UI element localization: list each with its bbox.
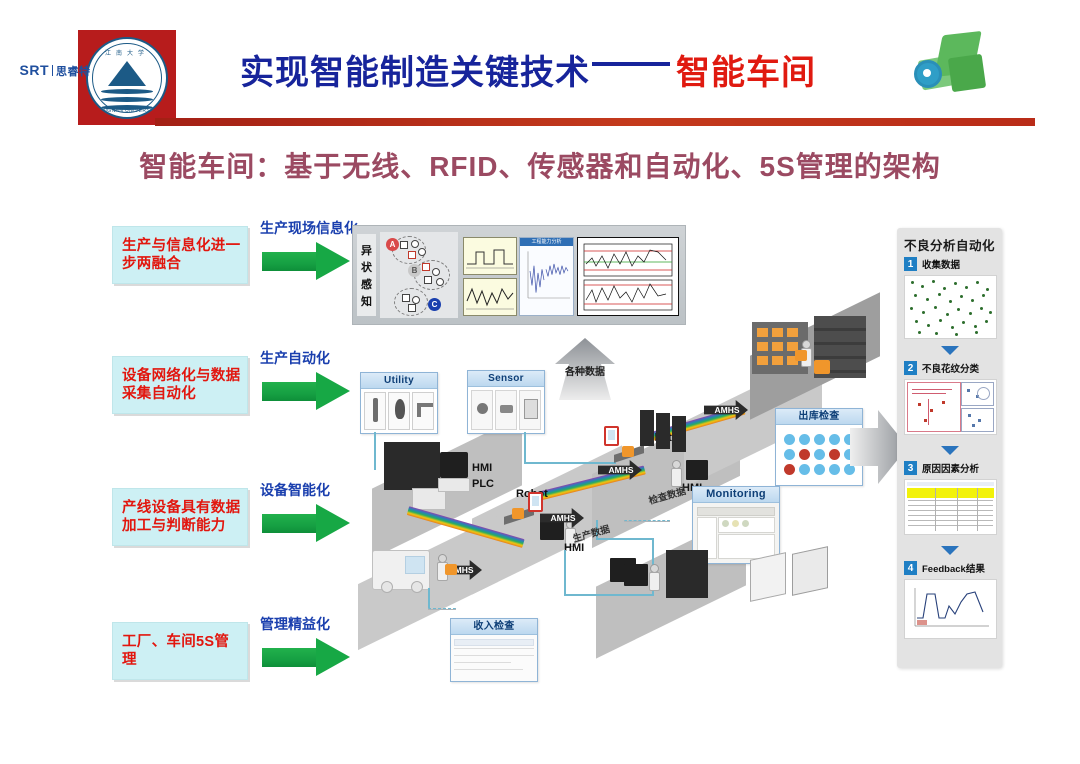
data-up-arrow-label: 各种数据	[545, 363, 625, 378]
sensor-icon-1	[471, 390, 493, 430]
capability-row: 设备网络化与数据采集自动化 生产自动化	[112, 348, 367, 440]
transport-vehicle	[372, 550, 430, 590]
utility-icon-faucet	[412, 392, 434, 430]
header-divider	[155, 118, 1035, 126]
hmi-screen	[440, 452, 468, 478]
step-label: 不良花纹分类	[922, 361, 979, 375]
robot-arm-icon	[512, 508, 524, 519]
defect-analysis-title: 不良分析自动化	[897, 235, 1002, 254]
label-plc: PLC	[472, 478, 494, 490]
title-dash-rule	[592, 62, 670, 66]
label-amhs: AMHS	[710, 405, 744, 415]
inbound-inspection-title: 收入检查	[451, 619, 537, 635]
network-badge-a: A	[386, 238, 399, 251]
server-unit	[640, 410, 654, 446]
vlabel-char: 知	[361, 293, 372, 309]
green-arrow-icon	[262, 372, 350, 410]
capability-arrow-group: 生产自动化	[260, 348, 366, 440]
hmi-stand	[438, 478, 470, 492]
connector-line	[564, 550, 566, 594]
step-number-badge: 2	[904, 361, 917, 375]
step-caret-icon	[941, 446, 959, 455]
sensor-icon-3	[519, 390, 541, 430]
connector-line	[374, 432, 376, 470]
server-unit	[672, 416, 686, 452]
capability-box-label: 工厂、车间5S管理	[122, 633, 241, 669]
capability-arrow-label: 管理精益化	[260, 614, 366, 634]
defect-step-4[interactable]: 4 Feedback结果	[904, 560, 995, 639]
label-amhs: AMHS	[546, 513, 580, 523]
slide-root: 江南大学 JIANGNAN UNIVERSITY 实现智能制造关键技术 智能车间…	[0, 0, 1080, 764]
worker-body	[649, 572, 660, 591]
step-number-badge: 3	[904, 461, 917, 475]
capability-box: 设备网络化与数据采集自动化	[112, 356, 248, 414]
network-map-panel: A B C	[380, 232, 458, 318]
connector-line	[428, 608, 456, 610]
connector-line	[428, 588, 430, 608]
capability-arrow-group: 管理精益化	[260, 614, 366, 706]
storage-shelf	[752, 322, 808, 374]
vlabel-char: 异	[361, 242, 372, 258]
dot-matrix	[784, 434, 855, 475]
srt-green-shape-icon	[948, 54, 986, 92]
capability-arrow-label: 生产自动化	[260, 348, 366, 368]
step-number-badge: 4	[904, 561, 917, 575]
connector-line	[596, 538, 654, 540]
connector-line	[624, 520, 670, 522]
utility-card[interactable]: Utility	[360, 372, 438, 434]
utility-icon-flame	[388, 392, 410, 430]
sensor-card[interactable]: Sensor	[467, 370, 545, 434]
anomaly-dashboard: 异 状 感 知 A B	[352, 225, 686, 325]
equipment-rack	[666, 550, 708, 598]
capability-row: 生产与信息化进一步两融合 生产现场信息化	[112, 218, 367, 310]
monitor-screen	[624, 564, 648, 586]
mini-chart-wave	[463, 278, 517, 316]
step-thumbnail-linechart	[904, 579, 997, 639]
step-caret-icon	[941, 546, 959, 555]
rfid-reader-icon	[604, 426, 619, 446]
seal-wave-icon	[101, 97, 153, 102]
sensor-card-title: Sensor	[468, 371, 544, 387]
vlabel-char: 状	[361, 259, 372, 275]
seal-cn-text: 江南大学	[88, 48, 166, 57]
capability-arrow-label: 设备智能化	[260, 480, 366, 500]
vlabel-char: 感	[361, 276, 372, 292]
worker-vest-icon	[445, 564, 457, 575]
step-label: Feedback结果	[922, 561, 985, 575]
rfid-reader-icon	[528, 492, 543, 512]
page-title-main: 实现智能制造关键技术	[240, 45, 590, 94]
utility-card-title: Utility	[361, 373, 437, 389]
checklist-board	[792, 546, 828, 596]
srt-brand-logo	[898, 32, 1008, 118]
utility-icon-valve	[364, 392, 386, 430]
green-arrow-icon	[262, 638, 350, 676]
defect-step-2[interactable]: 2 不良花纹分类	[904, 360, 995, 435]
label-amhs: AMHS	[604, 465, 638, 475]
hmi-screen	[686, 460, 708, 480]
step-thumbnail-table	[904, 479, 997, 535]
seal-triangle-icon	[108, 61, 146, 86]
checklist-board	[750, 552, 786, 602]
capability-row: 工厂、车间5S管理 管理精益化	[112, 614, 367, 706]
capability-box-label: 设备网络化与数据采集自动化	[122, 367, 241, 403]
capability-box: 工厂、车间5S管理	[112, 622, 248, 680]
inbound-inspection-card[interactable]: 收入检查	[450, 618, 538, 682]
defect-step-3[interactable]: 3 原因因素分析	[904, 460, 995, 535]
left-capability-column: 生产与信息化进一步两融合 生产现场信息化 设备网络化与数据采集自动化 生产自动化	[112, 218, 367, 698]
label-hmi: HMI	[472, 462, 492, 474]
srt-abbr: SRT	[20, 62, 50, 78]
srt-brand-text: SRT思睿特	[0, 62, 110, 79]
network-badge-c: C	[428, 298, 441, 311]
seal-wave-icon	[101, 89, 153, 94]
defect-step-1[interactable]: 1 收集数据	[904, 256, 995, 339]
capability-row: 产线设备具有数据加工与判断能力 设备智能化	[112, 480, 367, 572]
step-label: 收集数据	[922, 257, 960, 271]
srt-cn: 思睿特	[56, 66, 91, 78]
mini-chart-step	[463, 237, 517, 275]
mini-chart-spc	[577, 237, 679, 316]
mini-chart-caption: 工程能力分析	[520, 238, 573, 246]
sensor-icon-2	[495, 390, 517, 430]
capability-box: 产线设备具有数据加工与判断能力	[112, 488, 248, 546]
worker-vest-icon	[795, 350, 807, 361]
gear-icon	[914, 60, 942, 88]
green-arrow-icon	[262, 242, 350, 280]
step-caret-icon	[941, 346, 959, 355]
mini-chart-timeseries: 工程能力分析	[519, 237, 574, 316]
capability-arrow-group: 设备智能化	[260, 480, 366, 572]
server-unit	[656, 413, 670, 449]
connector-line	[564, 594, 654, 596]
network-badge-b: B	[408, 264, 421, 277]
defect-analysis-panel: 不良分析自动化 1 收集数据	[897, 228, 1002, 668]
cargo-box-icon	[814, 360, 830, 374]
page-title: 实现智能制造关键技术 智能车间	[240, 44, 880, 94]
capability-box-label: 生产与信息化进一步两融合	[122, 237, 241, 273]
capability-arrow-group: 生产现场信息化	[260, 218, 366, 310]
capability-box-label: 产线设备具有数据加工与判断能力	[122, 499, 241, 535]
robot-arm-icon	[622, 446, 634, 457]
smart-workshop-diagram: 异 状 感 知 A B	[352, 220, 892, 690]
capability-box: 生产与信息化进一步两融合	[112, 226, 248, 284]
monitoring-card-title: Monitoring	[693, 487, 779, 503]
step-number-badge: 1	[904, 257, 917, 271]
step-thumbnail-patterns	[904, 379, 997, 435]
step-thumbnail-scatter	[904, 275, 997, 339]
slide-subtitle: 智能车间：基于无线、RFID、传感器和自动化、5S管理的架构	[0, 145, 1080, 185]
connector-line	[524, 432, 526, 462]
seal-en-text: JIANGNAN UNIVERSITY	[88, 108, 166, 114]
green-arrow-icon	[262, 504, 350, 542]
equipment-rack	[384, 442, 440, 490]
page-title-accent: 智能车间	[676, 45, 816, 94]
anomaly-dashboard-label: 异 状 感 知	[357, 234, 376, 316]
slide-header: 江南大学 JIANGNAN UNIVERSITY 实现智能制造关键技术 智能车间…	[0, 0, 1080, 128]
step-label: 原因因素分析	[922, 461, 979, 475]
connector-line	[524, 462, 616, 464]
capability-arrow-label: 生产现场信息化	[260, 218, 366, 238]
